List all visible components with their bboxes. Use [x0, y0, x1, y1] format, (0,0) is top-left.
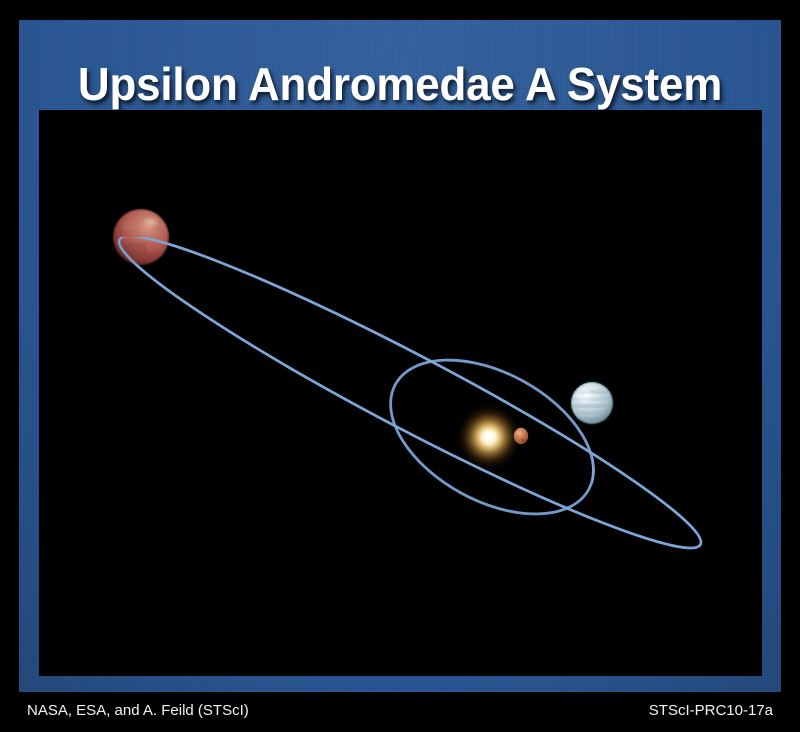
catalog-id: STScI-PRC10-17a [649, 702, 773, 720]
star-upsilon-andromedae-a [457, 405, 521, 469]
credit-line: NASA, ESA, and A. Feild (STScI) [27, 702, 249, 720]
page-title: Upsilon Andromedae A System [36, 60, 764, 108]
planet-blue-gas-giant [571, 382, 613, 424]
illustration-area [39, 110, 762, 676]
space-background [39, 110, 762, 676]
system-illustration [39, 110, 762, 676]
planet-small-inner [514, 428, 528, 444]
poster-root: Upsilon Andromedae A System [0, 0, 800, 732]
